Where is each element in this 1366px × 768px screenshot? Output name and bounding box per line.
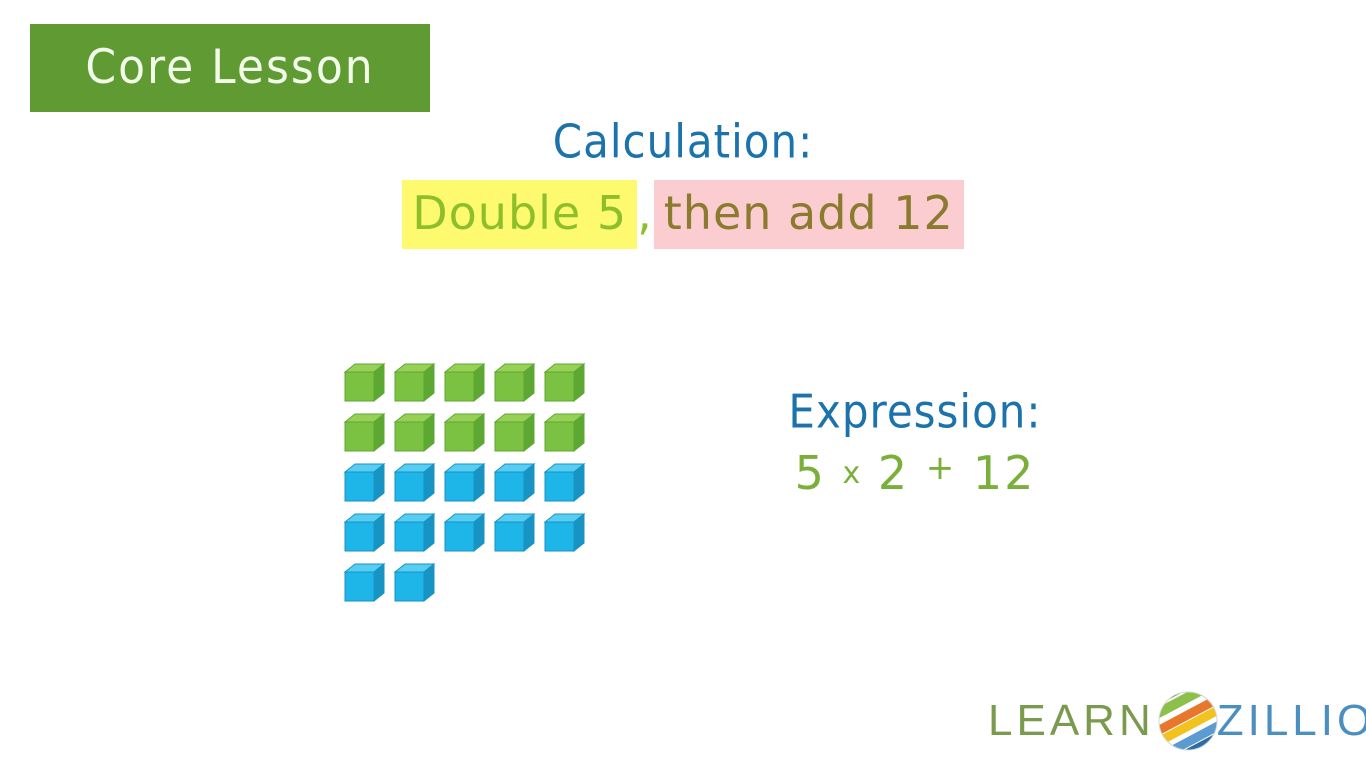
- expression-operand-three: 12: [973, 446, 1036, 500]
- unit-cube-green: [494, 362, 536, 404]
- calculation-part-double: Double 5: [402, 180, 637, 249]
- expression-block: Expression: 5 x 2 + 12: [700, 388, 1130, 499]
- core-lesson-banner-label: Core Lesson: [85, 44, 374, 92]
- globe-icon: [1157, 690, 1219, 752]
- unit-cube-green: [344, 362, 386, 404]
- cube-row: [344, 512, 594, 562]
- logo-word-learn: LEARN: [988, 699, 1155, 743]
- unit-cube-blue: [494, 462, 536, 504]
- calculation-part-add: then add 12: [654, 180, 964, 249]
- cube-row: [344, 462, 594, 512]
- unit-cube-blue: [444, 512, 486, 554]
- slide-canvas: Core Lesson Calculation: Double 5,then a…: [0, 0, 1366, 768]
- unit-cube-blue: [344, 512, 386, 554]
- expression-operator-multiply: x: [842, 456, 861, 491]
- calculation-block: Calculation: Double 5,then add 12: [333, 118, 1033, 249]
- unit-cube-blue: [494, 512, 536, 554]
- unit-cube-green: [394, 362, 436, 404]
- unit-cube-green: [544, 362, 586, 404]
- unit-cube-blue: [394, 562, 436, 604]
- unit-cube-blue: [444, 462, 486, 504]
- learnzillion-logo: LEARN: [988, 692, 1366, 750]
- expression-operand-one: 5: [795, 446, 826, 500]
- unit-cube-blue: [544, 512, 586, 554]
- expression-operator-plus: +: [926, 448, 957, 488]
- core-lesson-banner: Core Lesson: [30, 24, 430, 112]
- unit-cube-blue: [344, 562, 386, 604]
- unit-cube-green: [494, 412, 536, 454]
- calculation-statement: Double 5,then add 12: [333, 180, 1033, 249]
- logo-word-zillion: ZILLION: [1217, 699, 1366, 743]
- expression-operand-two: 2: [878, 446, 909, 500]
- unit-cube-blue: [394, 512, 436, 554]
- unit-cube-green: [344, 412, 386, 454]
- calculation-heading: Calculation:: [553, 116, 813, 169]
- unit-cube-green: [444, 362, 486, 404]
- cube-row: [344, 562, 594, 612]
- cube-row: [344, 362, 594, 412]
- cube-array: [344, 362, 594, 612]
- unit-cube-blue: [344, 462, 386, 504]
- calculation-separator: ,: [637, 180, 654, 249]
- unit-cube-green: [544, 412, 586, 454]
- unit-cube-green: [394, 412, 436, 454]
- expression-heading: Expression:: [788, 386, 1041, 439]
- cube-row: [344, 412, 594, 462]
- expression-value: 5 x 2 + 12: [700, 448, 1130, 499]
- unit-cube-green: [444, 412, 486, 454]
- unit-cube-blue: [544, 462, 586, 504]
- unit-cube-blue: [394, 462, 436, 504]
